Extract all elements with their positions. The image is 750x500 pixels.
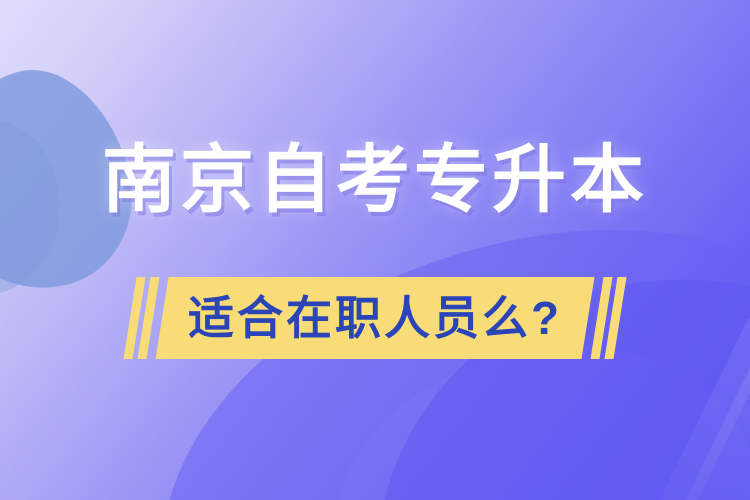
- banner-headline: 南京自考专升本: [0, 143, 750, 217]
- subtitle-plate: 适合在职人员么?: [155, 277, 594, 359]
- banner-subtitle: 适合在职人员么?: [188, 295, 562, 341]
- promo-banner: 南京自考专升本 适合在职人员么?: [0, 0, 750, 500]
- banner-subtitle-row: 适合在职人员么?: [0, 277, 750, 359]
